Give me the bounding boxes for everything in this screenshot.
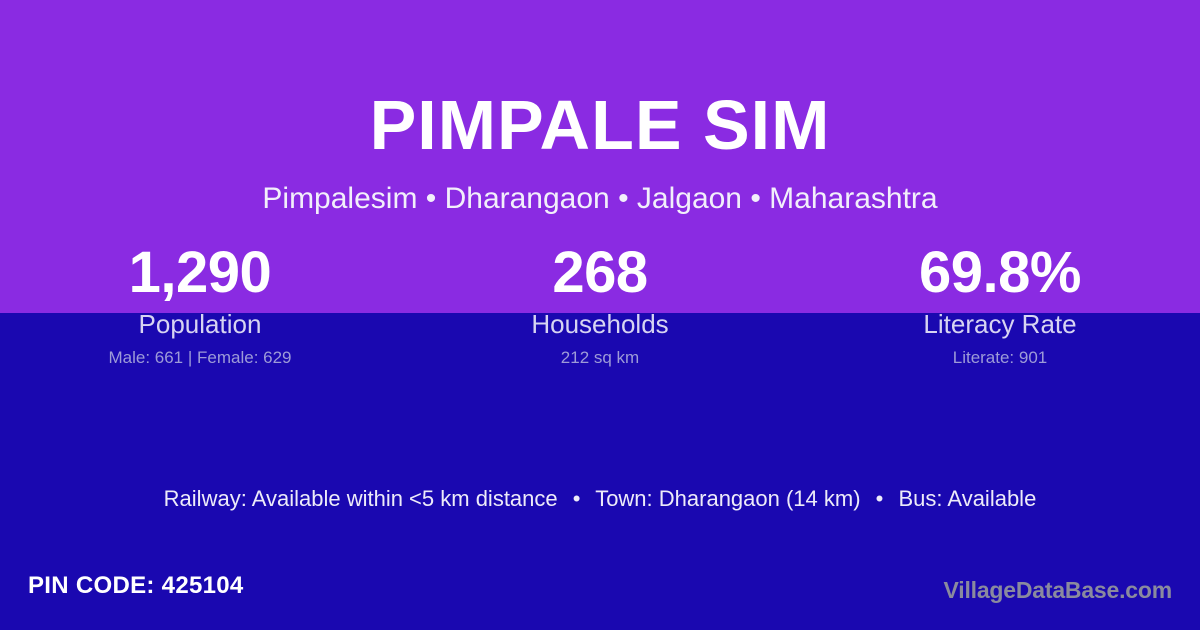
- stat-sub-population: Male: 661 | Female: 629: [0, 349, 400, 368]
- stat-value-population: 1,290: [0, 243, 400, 302]
- stat-label-households: Households: [400, 310, 800, 339]
- stat-literacy-rate: 69.8% Literacy Rate Literate: 901: [800, 243, 1200, 367]
- village-info-card: PIMPALE SIM Pimpalesim • Dharangaon • Ja…: [0, 0, 1200, 630]
- stat-sub-literacy-rate: Literate: 901: [800, 349, 1200, 368]
- stats-row: 1,290 Population Male: 661 | Female: 629…: [0, 243, 1200, 367]
- amenity-town: Town: Dharangaon (14 km): [595, 486, 860, 511]
- brand-watermark: VillageDataBase.com: [944, 577, 1172, 605]
- pin-code: PIN CODE: 425104: [28, 572, 244, 601]
- breadcrumb: Pimpalesim • Dharangaon • Jalgaon • Maha…: [0, 181, 1200, 217]
- card-footer: PIN CODE: 425104 VillageDataBase.com: [0, 560, 1200, 630]
- amenity-railway: Railway: Available within <5 km distance: [164, 486, 558, 511]
- amenities-line: Railway: Available within <5 km distance…: [0, 486, 1200, 512]
- stat-sub-households: 212 sq km: [400, 349, 800, 368]
- stat-value-literacy-rate: 69.8%: [800, 243, 1200, 302]
- stat-value-households: 268: [400, 243, 800, 302]
- amenity-separator-2: •: [867, 486, 893, 511]
- stat-population: 1,290 Population Male: 661 | Female: 629: [0, 243, 400, 367]
- stat-label-population: Population: [0, 310, 400, 339]
- amenity-bus: Bus: Available: [899, 486, 1037, 511]
- amenity-separator-1: •: [564, 486, 590, 511]
- stat-households: 268 Households 212 sq km: [400, 243, 800, 367]
- stat-label-literacy-rate: Literacy Rate: [800, 310, 1200, 339]
- page-title: PIMPALE SIM: [0, 90, 1200, 160]
